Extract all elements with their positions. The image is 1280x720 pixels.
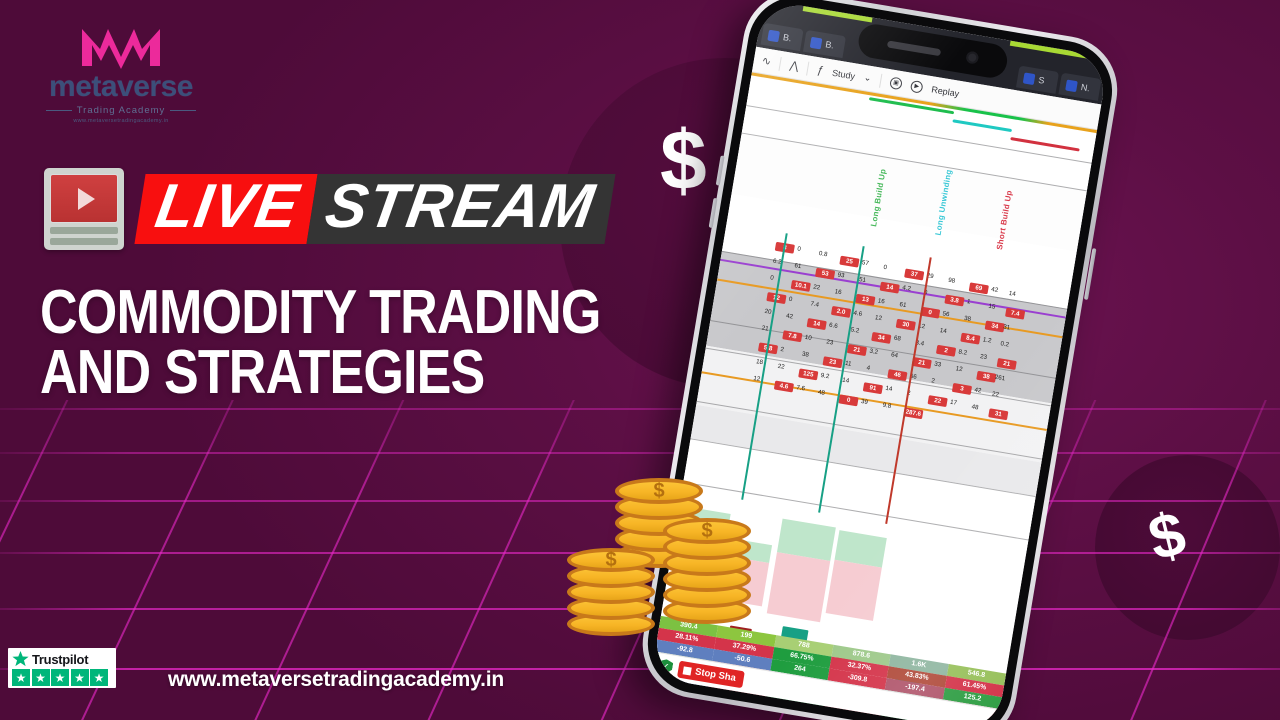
footprint-cell: 5.2 [850, 327, 860, 335]
footprint-cell: 16 [834, 289, 842, 296]
video-player-icon [44, 168, 124, 250]
trustpilot-star-icon: ★ [71, 669, 89, 686]
volume-bar-sell [767, 552, 830, 622]
tab-highlight-bar [803, 6, 873, 22]
site-url: www.metaversetradingacademy.in [168, 668, 504, 692]
live-label: LIVE [134, 174, 317, 244]
footprint-cell: 22 [991, 391, 999, 398]
replay-button-label[interactable]: Replay [931, 84, 960, 98]
camera-icon[interactable]: ▣ [889, 76, 903, 90]
trustpilot-star-icon: ★ [51, 669, 69, 686]
coin-dollar-icon: $ [619, 482, 699, 500]
tab-favicon-icon [1023, 72, 1036, 85]
footprint-cell: 9.2 [820, 373, 830, 381]
browser-tab[interactable]: B. [803, 30, 846, 58]
tab-favicon-icon [810, 36, 823, 49]
footprint-cell: 8.2 [958, 349, 968, 357]
toolbar-divider [879, 73, 882, 87]
footprint-cell: 42 [991, 287, 999, 294]
coin-dollar-icon: $ [571, 552, 651, 568]
logo-tagline: Trading Academy [36, 105, 206, 116]
footprint-cell: 0.2 [1000, 341, 1010, 349]
trustpilot-star-icon: ★ [90, 669, 108, 686]
live-stream-banner: LIVE STREAM [44, 168, 610, 250]
trustpilot-badge: Trustpilot ★★★★★ [8, 648, 116, 688]
footprint-cell: 23 [826, 339, 834, 346]
function-icon[interactable]: ƒ [816, 64, 824, 77]
tab-highlight-bar [1010, 41, 1109, 66]
coin: $ [567, 548, 655, 572]
footprint-cell: 4.2 [902, 286, 912, 294]
footprint-cell: 48 [971, 404, 979, 411]
footprint-cell: 0.8 [818, 251, 828, 259]
footprint-cell: 61 [899, 302, 907, 309]
footprint-cell: 12 [955, 366, 963, 373]
footprint-cell: 56 [942, 311, 950, 318]
browser-tab-label: B. [825, 39, 835, 50]
footprint-cell: 14 [885, 386, 893, 393]
replay-icon[interactable]: ▶ [910, 79, 924, 93]
browser-tab-label: N. [1080, 82, 1091, 93]
browser-tab[interactable]: S [1016, 66, 1059, 94]
chevron-down-icon[interactable]: ⌄ [863, 72, 872, 84]
page-title: COMMODITY TRADING AND STRATEGIES [40, 283, 611, 402]
coin: $ [663, 518, 751, 544]
footprint-cell: 7.4 [810, 301, 820, 309]
grid-line-vertical [1112, 400, 1280, 720]
stop-share-label: Stop Sha [694, 666, 736, 684]
footprint-cell: 11 [845, 360, 852, 367]
logo-wordmark: metaverse [36, 72, 206, 102]
trustpilot-label: Trustpilot [32, 652, 88, 667]
toolbar-divider [779, 57, 782, 71]
stop-share-button[interactable]: Stop Sha [677, 661, 745, 689]
footprint-cell: 12 [753, 376, 761, 383]
coin: $ [615, 478, 703, 504]
footprint-cell: 98 [948, 278, 956, 285]
stop-square-icon [683, 666, 692, 675]
pitchfork-icon[interactable]: ⋀ [789, 59, 800, 73]
footprint-cell: 51 [859, 277, 867, 284]
live-stream-words: LIVE STREAM [134, 174, 615, 244]
grid-line-horizontal [0, 408, 1280, 410]
footprint-cell: 3.2 [869, 348, 879, 356]
trustpilot-star-icon: ★ [12, 669, 30, 686]
shield-check-icon: ✓ [657, 658, 673, 675]
logo-mark-icon [36, 22, 206, 70]
footprint-cell: 38 [964, 316, 972, 323]
footprint-cell: 23 [979, 354, 987, 361]
footprint-cell: 57 [861, 260, 869, 267]
headline-line-1: COMMODITY TRADING [40, 283, 611, 343]
brand-logo: metaverse Trading Academy www.metaverset… [36, 22, 206, 124]
footprint-cell: 6.6 [829, 322, 839, 330]
footprint-cell: 42 [786, 313, 794, 320]
tab-favicon-icon [767, 29, 780, 42]
footprint-cell: 18 [756, 359, 764, 366]
footprint-cell: 64 [890, 353, 898, 360]
browser-tab[interactable]: N. [1058, 73, 1101, 101]
stream-label: STREAM [306, 174, 615, 244]
footprint-cell: 39 [860, 398, 868, 405]
footprint-cell: 93 [837, 272, 845, 279]
footprint-cell: 1.2 [982, 337, 992, 345]
footprint-cell: 31 [1003, 324, 1011, 331]
front-camera-icon [965, 51, 979, 65]
footprint-cell: 61 [794, 263, 802, 270]
footprint-cell: 22 [777, 364, 785, 371]
footprint-cell: 22 [813, 284, 821, 291]
dollar-sign-icon-top: $ [660, 118, 707, 202]
footprint-cell: 14 [939, 328, 947, 335]
earpiece-speaker [887, 40, 941, 56]
tab-favicon-icon [1065, 79, 1078, 92]
browser-tab-label: B. [782, 32, 792, 43]
toolbar-divider [806, 61, 809, 75]
browser-tab-label: S [1038, 75, 1046, 86]
trustpilot-star-icon [12, 651, 29, 667]
footprint-cell: 42 [974, 388, 982, 395]
volume-bar-sell [826, 560, 882, 621]
footprint-cell: 38 [801, 351, 809, 358]
coin-dollar-icon: $ [667, 522, 747, 540]
footprint-cell: 9.8 [882, 403, 892, 411]
footprint-cell: 16 [877, 298, 885, 305]
footprint-cell: 7.6 [796, 385, 806, 393]
footprint-cell: 33 [934, 362, 942, 369]
footprint-cell: 48 [817, 389, 825, 396]
study-button-label[interactable]: Study [832, 67, 856, 81]
trustpilot-stars: ★★★★★ [12, 669, 112, 686]
footprint-cell: 10 [804, 335, 812, 342]
footprint-cell: 17 [949, 400, 957, 407]
footprint-cell: 21 [761, 326, 769, 333]
footprint-cell: 15 [988, 304, 996, 311]
headline-line-2: AND STRATEGIES [40, 343, 611, 403]
browser-tab[interactable]: B. [761, 23, 804, 51]
footprint-cell: 14 [842, 377, 850, 384]
footprint-cell: 4.6 [853, 310, 863, 318]
footprint-cell: 14 [1008, 291, 1016, 298]
trustpilot-star-icon: ★ [32, 669, 50, 686]
trendline-icon[interactable]: ∿ [761, 54, 772, 68]
footprint-cell: 68 [893, 336, 901, 343]
logo-url: www.metaversetradingacademy.in [36, 118, 206, 124]
grid-line-horizontal [0, 452, 1280, 454]
footprint-cell: 20 [764, 309, 772, 316]
footprint-cell: 12 [875, 315, 883, 322]
